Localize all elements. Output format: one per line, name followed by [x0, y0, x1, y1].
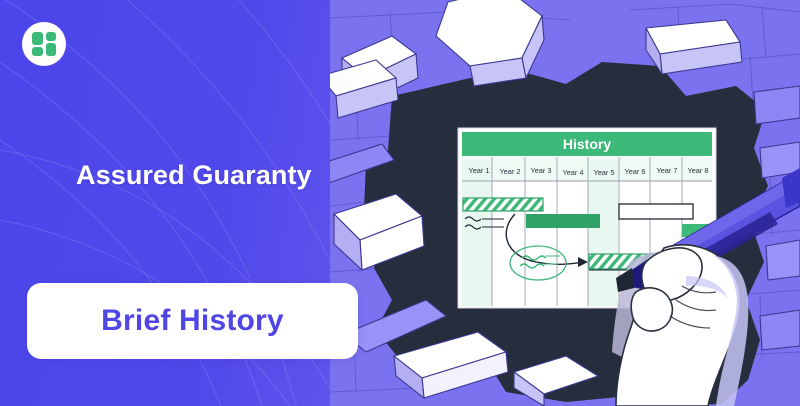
bar-hatched-row1 — [463, 198, 543, 211]
col-header-year-4: Year 4 — [562, 168, 583, 177]
grid-square-top-left — [32, 32, 43, 45]
illustration-svg: History Year 1 Year 2 Year 3 Year 4 Year… — [330, 0, 800, 406]
grid-square-bottom-left — [32, 47, 43, 56]
column-highlight-year1 — [462, 160, 492, 306]
brand-name: Assured Guaranty — [76, 160, 312, 191]
bar-outline-row2-right — [619, 204, 693, 219]
col-header-year-6: Year 6 — [624, 167, 645, 176]
col-header-year-5: Year 5 — [593, 168, 614, 177]
column-highlight-year5 — [588, 160, 618, 306]
chart-header-label: History — [563, 136, 611, 152]
col-header-year-2: Year 2 — [499, 167, 520, 176]
grid-square-top-right — [46, 32, 57, 41]
brick-right-bottom — [760, 310, 800, 350]
grid-square-bottom-right — [46, 43, 57, 56]
four-square-grid-icon — [32, 32, 56, 56]
col-header-year-7: Year 7 — [656, 166, 677, 175]
col-header-year-8: Year 8 — [687, 166, 708, 175]
page-title: Brief History — [101, 304, 284, 338]
col-header-year-1: Year 1 — [468, 166, 489, 175]
slide-canvas: History Year 1 Year 2 Year 3 Year 4 Year… — [0, 0, 800, 406]
col-header-year-3: Year 3 — [530, 166, 551, 175]
left-content-panel: Assured Guaranty Brief History — [0, 0, 400, 406]
brick-right-lower — [766, 240, 800, 280]
brand-logo-badge[interactable] — [22, 22, 66, 66]
brick-right-upper — [754, 86, 800, 124]
title-card: Brief History — [27, 283, 358, 359]
bar-solid-row2 — [526, 214, 600, 228]
illustration-broken-wall-scene: History Year 1 Year 2 Year 3 Year 4 Year… — [330, 0, 800, 406]
